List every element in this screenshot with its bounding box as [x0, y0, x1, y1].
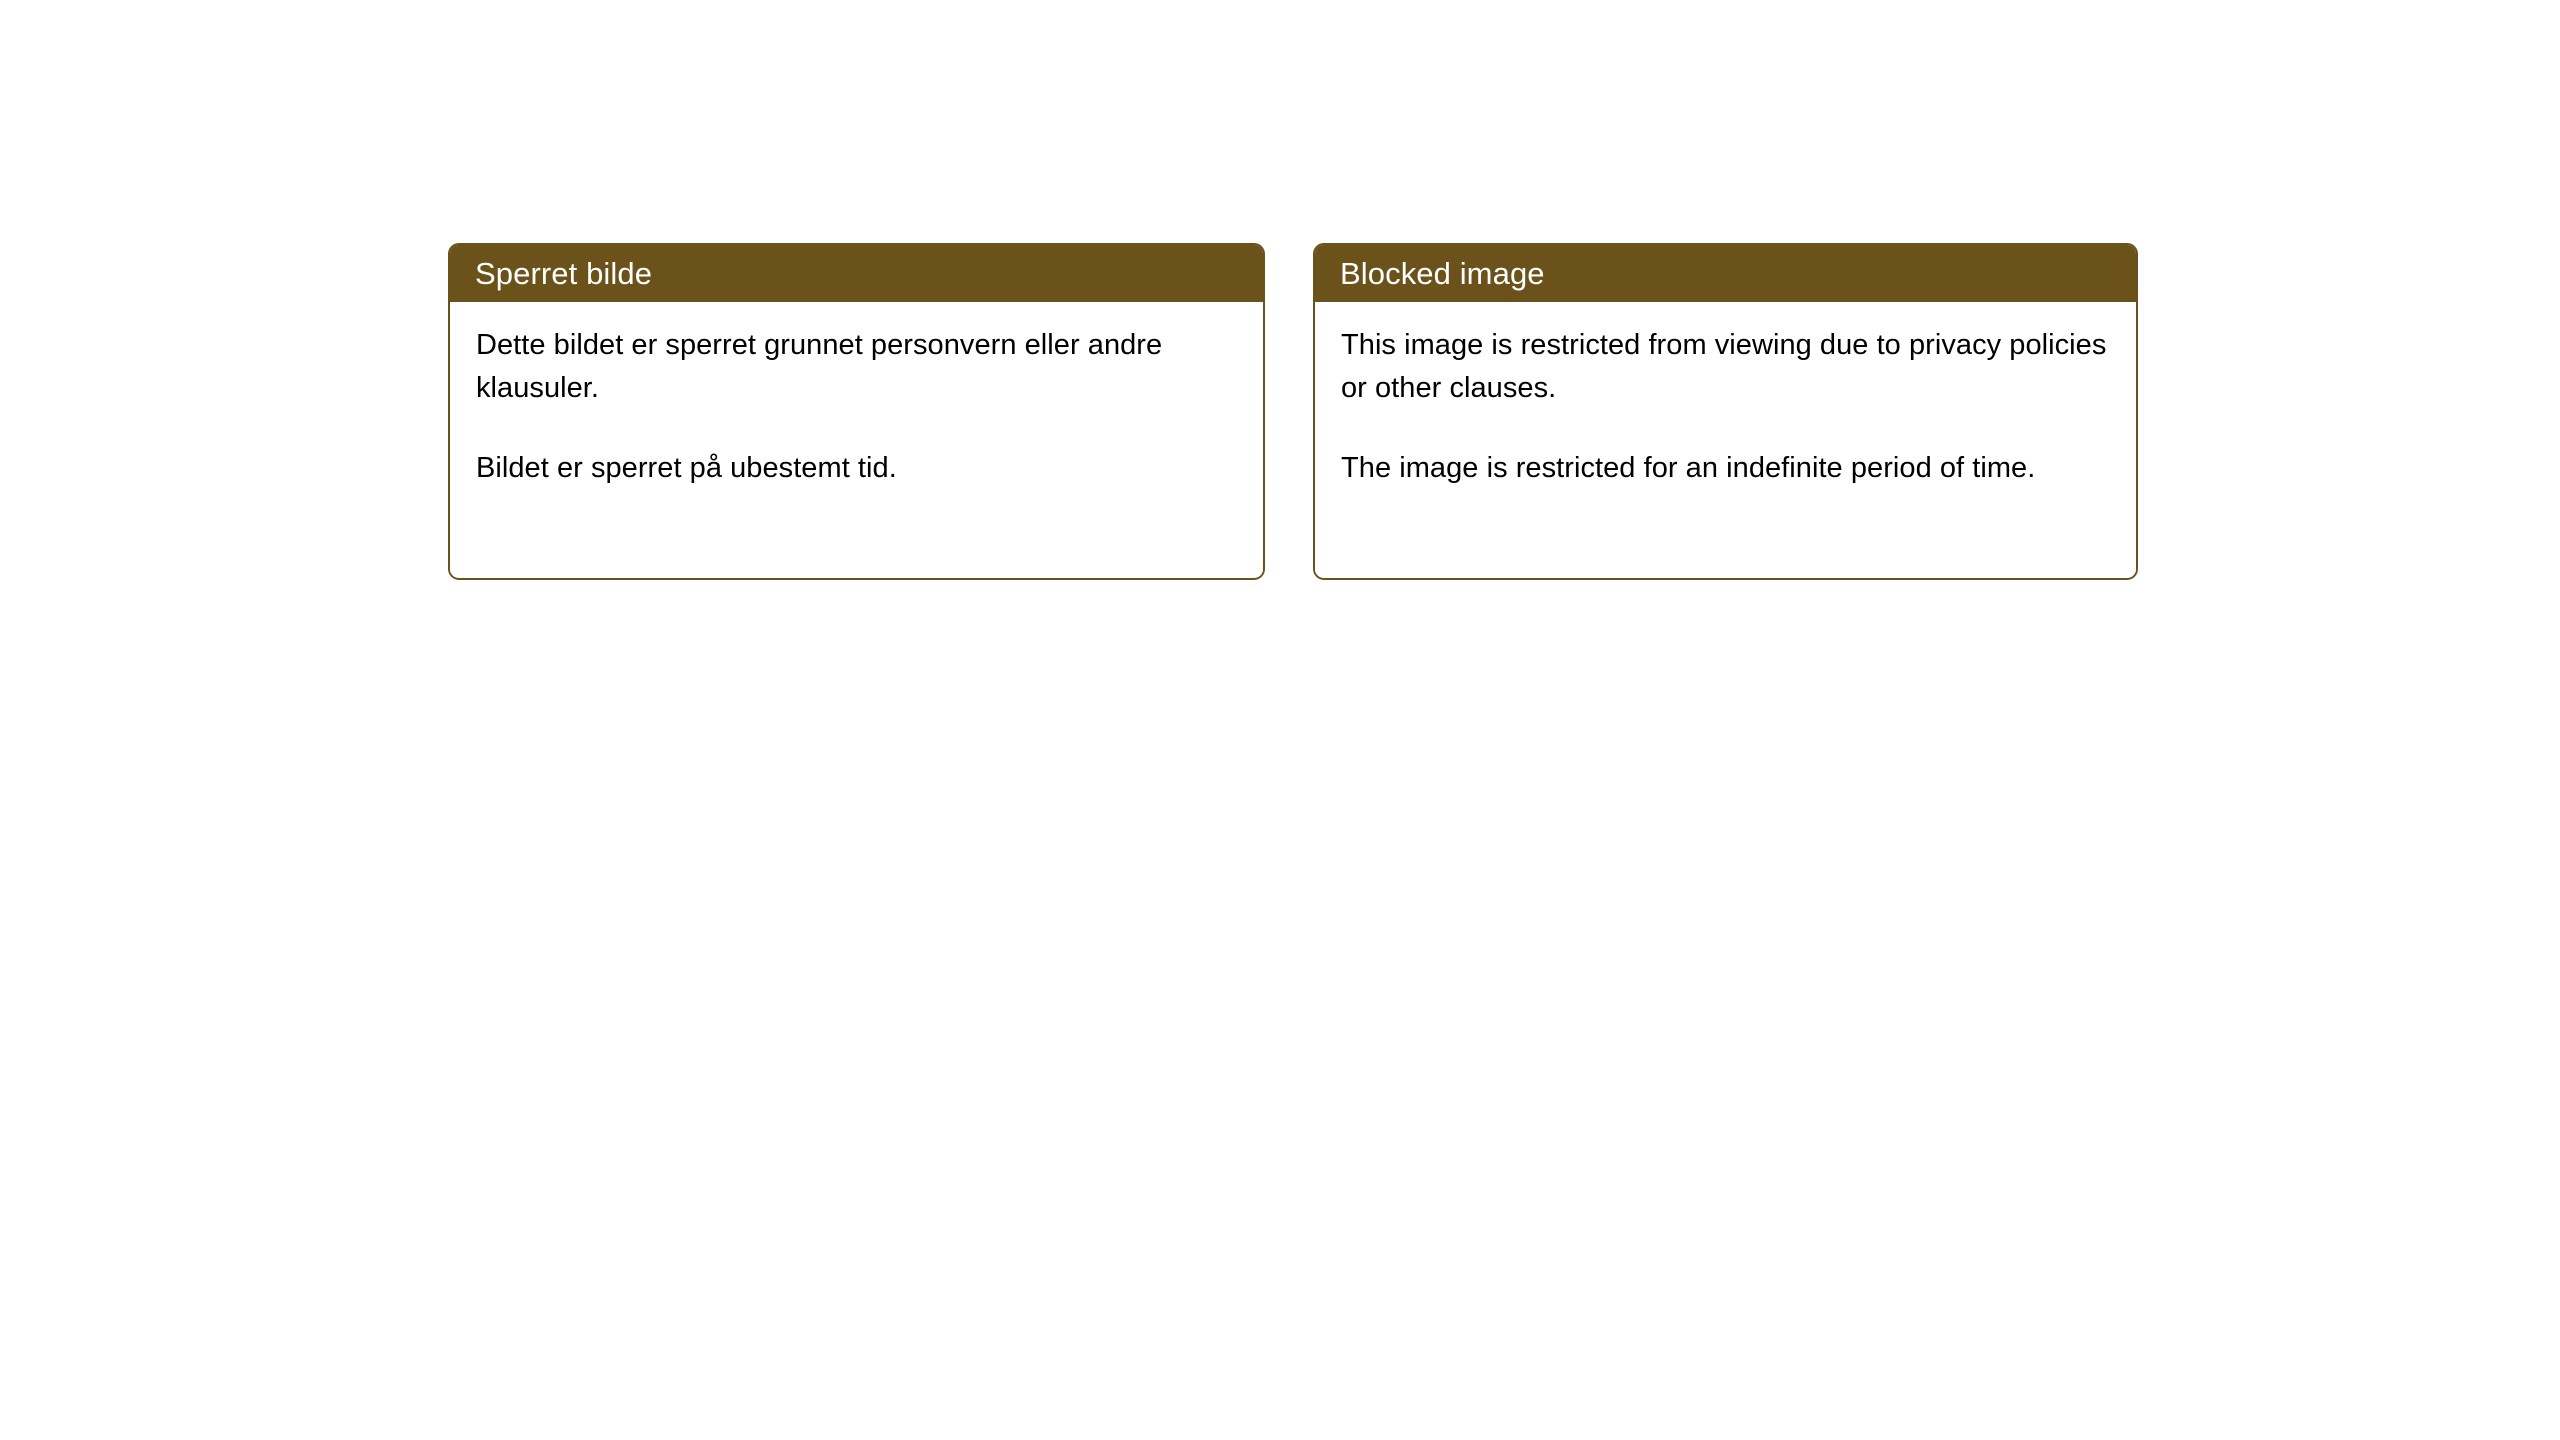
card-body-english: This image is restricted from viewing du…: [1315, 302, 2136, 577]
card-title-english: Blocked image: [1340, 258, 1545, 289]
card-paragraph-primary-english: This image is restricted from viewing du…: [1341, 324, 2112, 410]
blocked-image-card-english: Blocked image This image is restricted f…: [1313, 243, 2138, 580]
blocked-image-card-norwegian: Sperret bilde Dette bildet er sperret gr…: [448, 243, 1265, 580]
paragraph-spacer-english: [1341, 410, 2112, 447]
card-body-norwegian: Dette bildet er sperret grunnet personve…: [450, 302, 1263, 577]
card-title-norwegian: Sperret bilde: [475, 258, 652, 289]
card-header-english: Blocked image: [1314, 244, 2137, 302]
page-canvas: Sperret bilde Dette bildet er sperret gr…: [0, 0, 2560, 1440]
card-paragraph-secondary-norwegian: Bildet er sperret på ubestemt tid.: [476, 447, 1239, 490]
card-paragraph-secondary-english: The image is restricted for an indefinit…: [1341, 447, 2112, 490]
paragraph-spacer-norwegian: [476, 410, 1239, 447]
card-paragraph-primary-norwegian: Dette bildet er sperret grunnet personve…: [476, 324, 1239, 410]
card-header-norwegian: Sperret bilde: [449, 244, 1264, 302]
